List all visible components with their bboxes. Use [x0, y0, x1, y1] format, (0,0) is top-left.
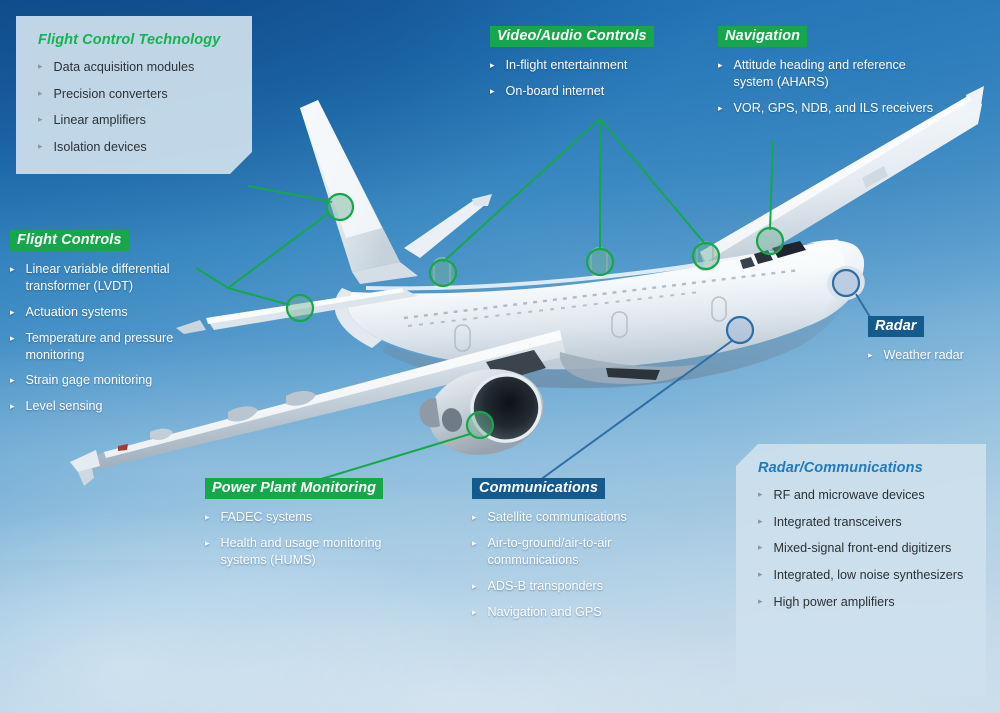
- list-item-label: In-flight entertainment: [506, 57, 628, 74]
- triangle-bullet-icon: ▸: [38, 112, 43, 127]
- list-item: ▸ Precision converters: [38, 86, 232, 103]
- list-item: ▸ RF and microwave devices: [758, 487, 966, 504]
- triangle-bullet-icon: ▸: [472, 578, 477, 594]
- panel-title: Flight Control Technology: [38, 32, 232, 48]
- callout-title-chip: Video/Audio Controls: [490, 26, 654, 47]
- list-item: ▸ Weather radar: [868, 347, 998, 364]
- callout-title-chip: Power Plant Monitoring: [205, 478, 383, 499]
- triangle-bullet-icon: ▸: [38, 86, 43, 101]
- callout-list: ▸ FADEC systems ▸ Health and usage monit…: [205, 509, 395, 569]
- list-item-label: Precision converters: [54, 86, 168, 103]
- triangle-bullet-icon: ▸: [38, 139, 43, 154]
- callout-title-chip: Communications: [472, 478, 605, 499]
- list-item-label: High power amplifiers: [774, 594, 895, 611]
- list-item-label: Weather radar: [884, 347, 964, 364]
- panel-list: ▸ RF and microwave devices ▸ Integrated …: [758, 487, 966, 611]
- triangle-bullet-icon: ▸: [10, 372, 15, 388]
- callout-title-chip: Radar: [868, 316, 924, 337]
- list-item-label: Strain gage monitoring: [26, 372, 153, 389]
- infographic-canvas: Flight Control Technology ▸ Data acquisi…: [0, 0, 1000, 713]
- triangle-bullet-icon: ▸: [10, 304, 15, 320]
- list-item: ▸ Level sensing: [10, 398, 215, 415]
- triangle-bullet-icon: ▸: [472, 535, 477, 551]
- list-item-label: Health and usage monitoring systems (HUM…: [221, 535, 395, 569]
- list-item: ▸ ADS-B transponders: [472, 578, 677, 595]
- list-item: ▸ Air-to-ground/air-to-air communication…: [472, 535, 677, 569]
- triangle-bullet-icon: ▸: [10, 330, 15, 346]
- list-item-label: Linear variable differential transformer…: [26, 261, 215, 295]
- callout-list: ▸ Weather radar: [868, 347, 998, 364]
- list-item-label: Data acquisition modules: [54, 59, 195, 76]
- list-item-label: Integrated, low noise synthesizers: [774, 567, 964, 584]
- list-item-label: Mixed-signal front-end digitizers: [774, 540, 952, 557]
- list-item-label: VOR, GPS, NDB, and ILS receivers: [734, 100, 933, 117]
- list-item: ▸ Actuation systems: [10, 304, 215, 321]
- list-item-label: Attitude heading and reference system (A…: [734, 57, 940, 91]
- panel-radar-communications: Radar/Communications ▸ RF and microwave …: [736, 444, 986, 696]
- callout-title-chip: Flight Controls: [10, 230, 129, 251]
- list-item: ▸ Integrated, low noise synthesizers: [758, 567, 966, 584]
- list-item: ▸ FADEC systems: [205, 509, 395, 526]
- callout-video-audio-controls: Video/Audio Controls ▸ In-flight enterta…: [490, 26, 680, 100]
- triangle-bullet-icon: ▸: [472, 604, 477, 620]
- list-item-label: Air-to-ground/air-to-air communications: [488, 535, 677, 569]
- panel-flight-control-technology: Flight Control Technology ▸ Data acquisi…: [16, 16, 252, 174]
- callout-power-plant-monitoring: Power Plant Monitoring ▸ FADEC systems ▸…: [205, 478, 395, 569]
- list-item: ▸ Data acquisition modules: [38, 59, 232, 76]
- triangle-bullet-icon: ▸: [472, 509, 477, 525]
- triangle-bullet-icon: ▸: [758, 540, 763, 555]
- list-item-label: Temperature and pressure monitoring: [26, 330, 215, 364]
- list-item-label: RF and microwave devices: [774, 487, 925, 504]
- panel-list: ▸ Data acquisition modules ▸ Precision c…: [38, 59, 232, 156]
- list-item-label: Satellite communications: [488, 509, 627, 526]
- list-item: ▸ Attitude heading and reference system …: [718, 57, 940, 91]
- list-item: ▸ Temperature and pressure monitoring: [10, 330, 215, 364]
- callout-communications: Communications ▸ Satellite communication…: [472, 478, 677, 620]
- list-item: ▸ On-board internet: [490, 83, 680, 100]
- callout-radar: Radar ▸ Weather radar: [868, 316, 998, 364]
- callout-list: ▸ Linear variable differential transform…: [10, 261, 215, 415]
- list-item-label: Actuation systems: [26, 304, 128, 321]
- triangle-bullet-icon: ▸: [38, 59, 43, 74]
- list-item-label: Level sensing: [26, 398, 103, 415]
- triangle-bullet-icon: ▸: [868, 347, 873, 363]
- triangle-bullet-icon: ▸: [205, 509, 210, 525]
- list-item: ▸ In-flight entertainment: [490, 57, 680, 74]
- triangle-bullet-icon: ▸: [10, 398, 15, 414]
- triangle-bullet-icon: ▸: [718, 100, 723, 116]
- triangle-bullet-icon: ▸: [758, 567, 763, 582]
- list-item: ▸ VOR, GPS, NDB, and ILS receivers: [718, 100, 940, 117]
- list-item-label: On-board internet: [506, 83, 605, 100]
- list-item: ▸ Integrated transceivers: [758, 514, 966, 531]
- list-item-label: Integrated transceivers: [774, 514, 902, 531]
- triangle-bullet-icon: ▸: [205, 535, 210, 551]
- triangle-bullet-icon: ▸: [758, 514, 763, 529]
- list-item: ▸ Strain gage monitoring: [10, 372, 215, 389]
- list-item: ▸ Mixed-signal front-end digitizers: [758, 540, 966, 557]
- list-item-label: ADS-B transponders: [488, 578, 604, 595]
- list-item-label: Linear amplifiers: [54, 112, 146, 129]
- list-item-label: Navigation and GPS: [488, 604, 602, 621]
- callout-list: ▸ Satellite communications ▸ Air-to-grou…: [472, 509, 677, 620]
- list-item-label: FADEC systems: [221, 509, 313, 526]
- callout-flight-controls: Flight Controls ▸ Linear variable differ…: [10, 230, 215, 415]
- callout-list: ▸ Attitude heading and reference system …: [718, 57, 940, 117]
- triangle-bullet-icon: ▸: [490, 83, 495, 99]
- triangle-bullet-icon: ▸: [758, 594, 763, 609]
- list-item: ▸ Isolation devices: [38, 139, 232, 156]
- list-item: ▸ Navigation and GPS: [472, 604, 677, 621]
- list-item: ▸ Health and usage monitoring systems (H…: [205, 535, 395, 569]
- triangle-bullet-icon: ▸: [490, 57, 495, 73]
- callout-list: ▸ In-flight entertainment ▸ On-board int…: [490, 57, 680, 100]
- list-item: ▸ High power amplifiers: [758, 594, 966, 611]
- list-item: ▸ Linear amplifiers: [38, 112, 232, 129]
- triangle-bullet-icon: ▸: [718, 57, 723, 73]
- list-item: ▸ Satellite communications: [472, 509, 677, 526]
- callout-navigation: Navigation ▸ Attitude heading and refere…: [718, 26, 940, 117]
- triangle-bullet-icon: ▸: [10, 261, 15, 277]
- callout-title-chip: Navigation: [718, 26, 807, 47]
- list-item: ▸ Linear variable differential transform…: [10, 261, 215, 295]
- list-item-label: Isolation devices: [54, 139, 147, 156]
- panel-title: Radar/Communications: [758, 460, 966, 476]
- triangle-bullet-icon: ▸: [758, 487, 763, 502]
